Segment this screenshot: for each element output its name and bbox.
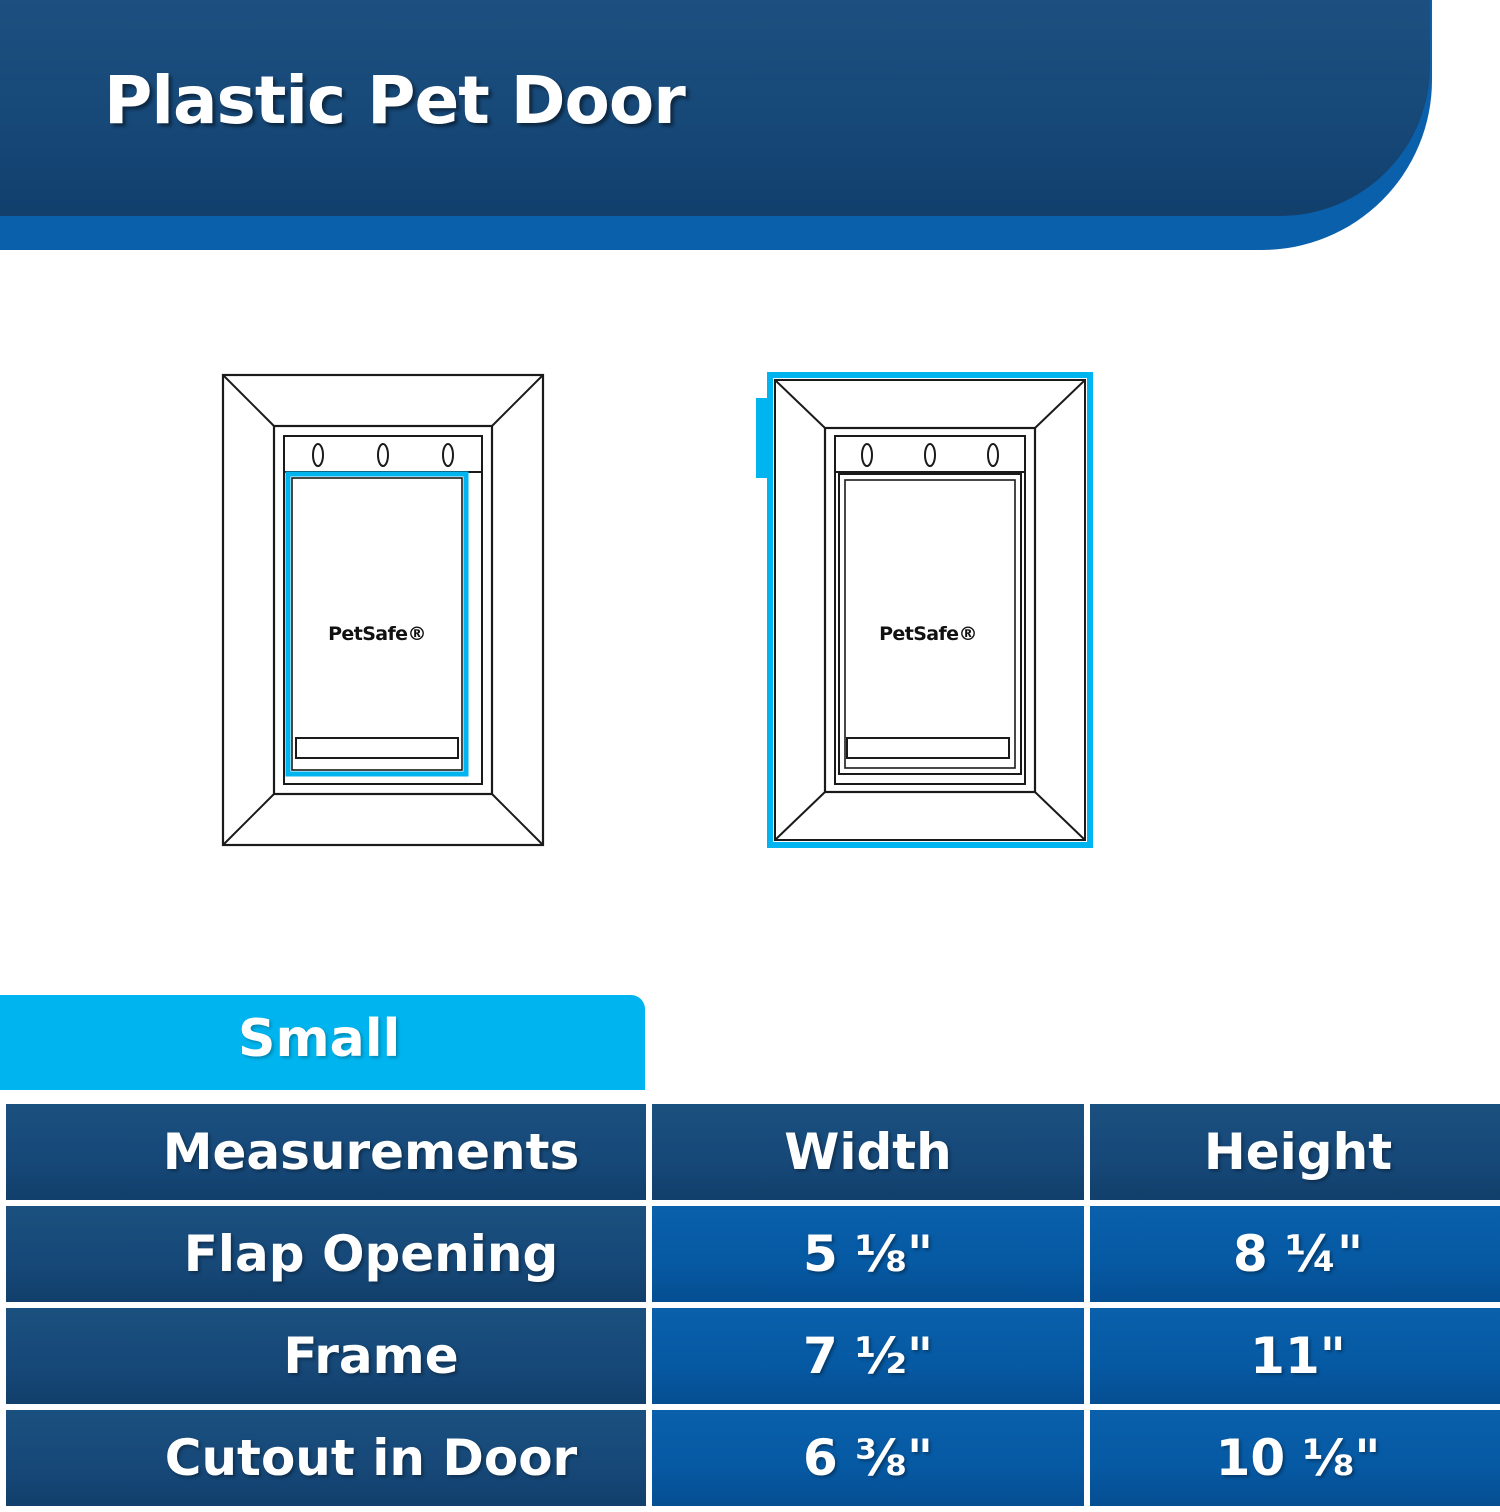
row-width-cutout-in-door: 6 ⅜"	[652, 1410, 1084, 1506]
column-header-measurements: Measurements	[6, 1104, 646, 1200]
measurements-table: Measurements Width Height Flap Opening 5…	[0, 1098, 1500, 1512]
rivet-icon	[313, 444, 323, 466]
size-badge-label: Small	[238, 1009, 400, 1069]
row-label-cutout-in-door: Cutout in Door	[6, 1410, 646, 1506]
brand-logo-flap: PetSafe®	[328, 623, 426, 645]
table-header-row: Measurements Width Height	[6, 1104, 1500, 1200]
row-label-frame: Frame	[6, 1308, 646, 1404]
column-header-height: Height	[1090, 1104, 1500, 1200]
rivet-icon	[925, 444, 935, 466]
column-header-width: Width	[652, 1104, 1084, 1200]
row-width-frame: 7 ½"	[652, 1308, 1084, 1404]
page-header: Plastic Pet Door	[0, 0, 1500, 255]
row-height-cutout-in-door: 10 ⅛"	[1090, 1410, 1500, 1506]
row-label-flap-opening: Flap Opening	[6, 1206, 646, 1302]
brand-logo-frame: PetSafe®	[879, 623, 977, 645]
rivet-icon	[862, 444, 872, 466]
table-row: Frame 7 ½" 11"	[6, 1308, 1500, 1404]
pet-door-frame-illustration: PetSafe®	[765, 370, 1095, 850]
pet-door-flap-illustration: PetSafe®	[218, 370, 548, 850]
page-title: Plastic Pet Door	[104, 62, 685, 139]
diagram-frame: PetSafe® Frame	[765, 370, 1095, 850]
row-height-flap-opening: 8 ¼"	[1090, 1206, 1500, 1302]
rivet-icon	[378, 444, 388, 466]
rivet-icon	[988, 444, 998, 466]
table-row: Flap Opening 5 ⅛" 8 ¼"	[6, 1206, 1500, 1302]
row-height-frame: 11"	[1090, 1308, 1500, 1404]
table-row: Cutout in Door 6 ⅜" 10 ⅛"	[6, 1410, 1500, 1506]
rivet-icon	[443, 444, 453, 466]
product-diagrams: PetSafe® Flap	[0, 370, 1500, 890]
row-width-flap-opening: 5 ⅛"	[652, 1206, 1084, 1302]
diagram-flap: PetSafe® Flap	[218, 370, 548, 850]
size-badge: Small	[0, 995, 645, 1090]
